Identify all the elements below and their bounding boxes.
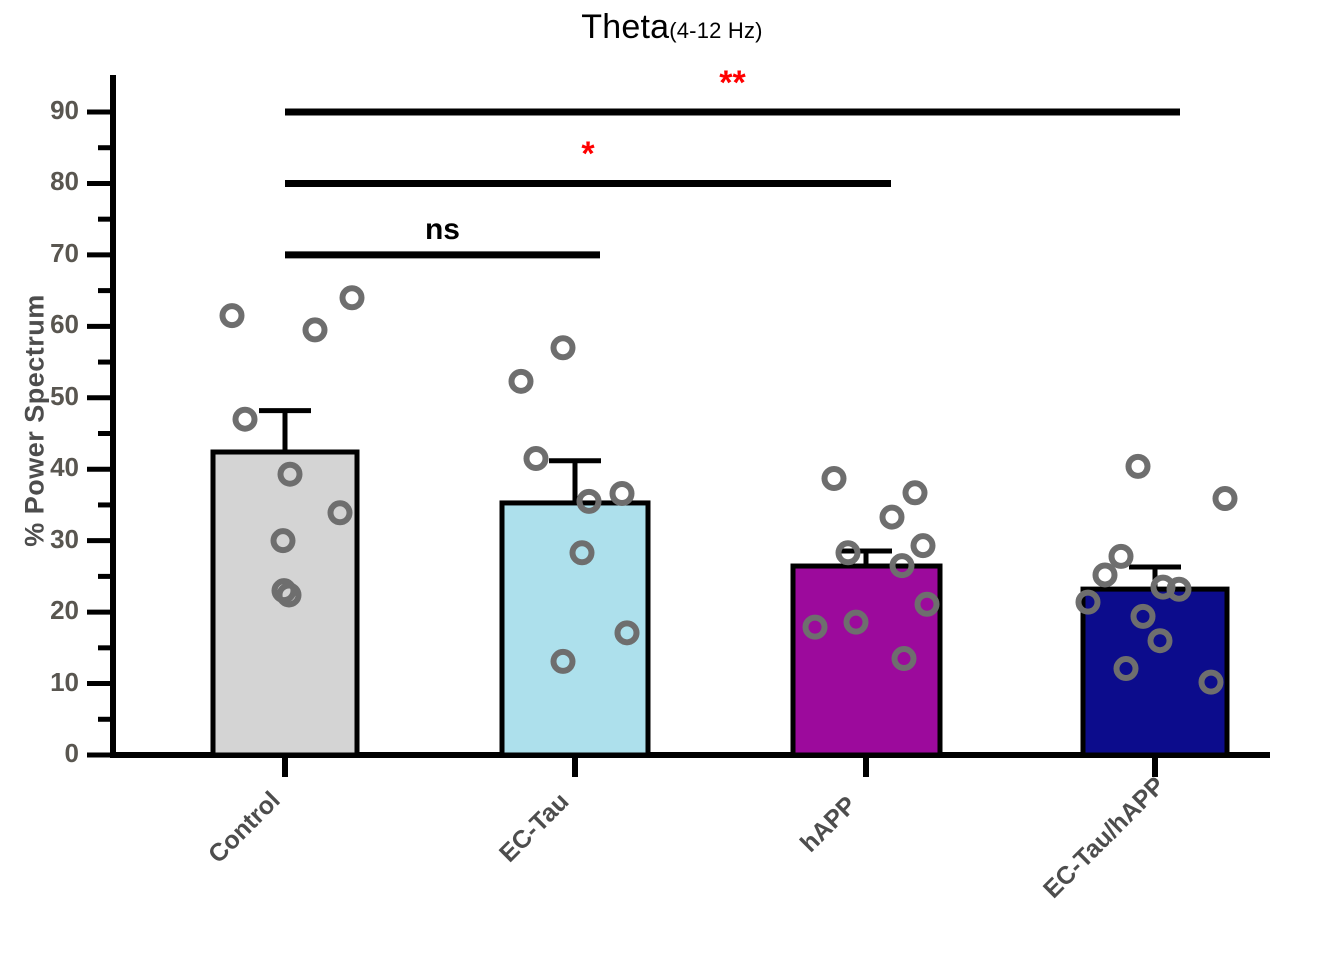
scatter-point [613,484,632,503]
scatter-point [1129,457,1148,476]
scatter-point [906,483,925,502]
plot-area [0,0,1344,960]
bars [213,452,1227,755]
significance-brackets [285,112,1180,255]
scatter-point [1216,489,1235,508]
bar-ec-tau [502,503,648,755]
scatter-point [306,320,325,339]
scatter-point [236,410,255,429]
scatter-point [914,536,933,555]
scatter-point [527,449,546,468]
error-bars [259,411,1181,590]
scatter-point [883,508,902,527]
scatter-point [223,306,242,325]
chart-figure: Theta(4-12 Hz) % Power Spectrum 90807060… [0,0,1344,960]
scatter-point [1096,565,1115,584]
scatter-point [1112,547,1131,566]
scatter-point [554,338,573,357]
scatter-point [512,372,531,391]
scatter-point [825,469,844,488]
scatter-point [343,288,362,307]
bar-happ [793,566,940,755]
